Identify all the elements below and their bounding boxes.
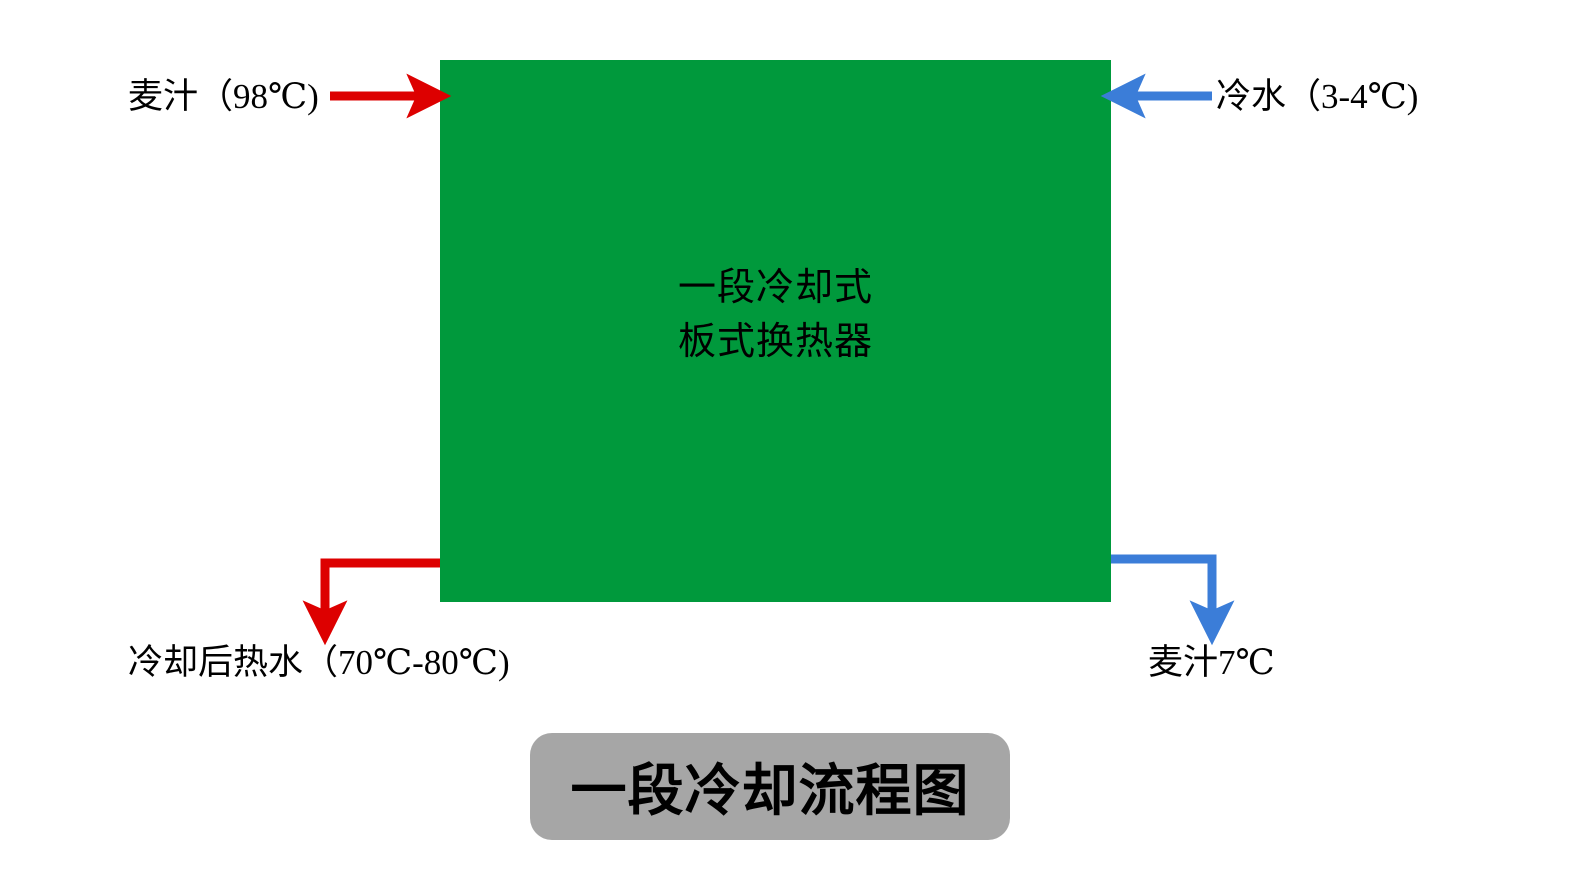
diagram-canvas: 一段冷却式板式换热器 麦汁（98℃) 冷水（3-4℃) 冷却后热水（70℃-80… <box>0 0 1586 892</box>
label-wort-outlet: 麦汁7℃ <box>1148 645 1275 680</box>
title-banner: 一段冷却流程图 <box>530 733 1010 840</box>
label-cold-water-inlet: 冷水（3-4℃) <box>1216 79 1418 114</box>
diagram-title: 一段冷却流程图 <box>571 746 970 827</box>
arrow-wort-outlet <box>1111 559 1212 630</box>
heat-exchanger-label-line2: 板式换热器 <box>678 321 873 363</box>
heat-exchanger-label: 一段冷却式板式换热器 <box>440 262 1111 370</box>
heat-exchanger-label-line1: 一段冷却式 <box>678 267 873 309</box>
label-hot-water-outlet: 冷却后热水（70℃-80℃) <box>128 645 510 680</box>
label-wort-inlet: 麦汁（98℃) <box>128 79 319 114</box>
arrow-hot-water-outlet <box>325 563 440 630</box>
